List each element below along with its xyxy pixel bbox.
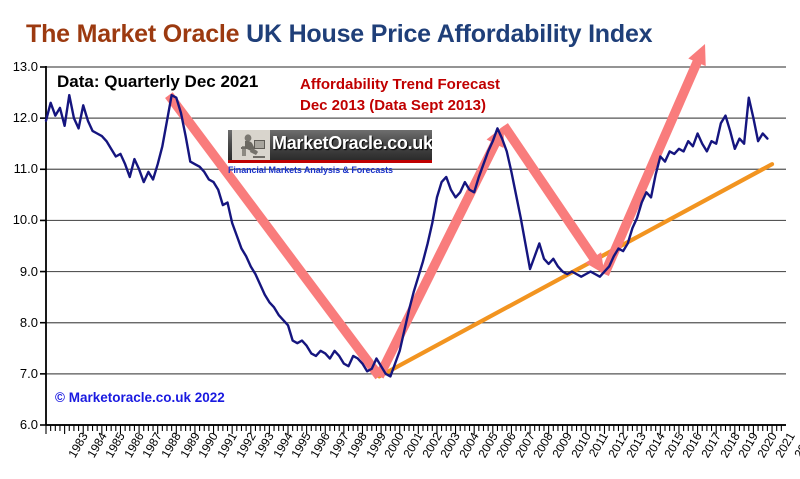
logo-name: MarketOracle.co.uk bbox=[272, 133, 432, 154]
y-axis-label: 10.0 bbox=[0, 212, 38, 227]
y-axis-label: 7.0 bbox=[0, 366, 38, 381]
y-axis-label: 11.0 bbox=[0, 161, 38, 176]
forecast-annotation: Affordability Trend Forecast Dec 2013 (D… bbox=[300, 75, 500, 116]
copyright-notice: © Marketoracle.co.uk 2022 bbox=[55, 390, 225, 405]
seated-figure-glyph bbox=[232, 130, 270, 160]
forecast-segment-2 bbox=[504, 126, 598, 264]
logo-tagline: Financial Markets Analysis & Forecasts bbox=[228, 165, 432, 175]
forecast-annotation-line1: Affordability Trend Forecast bbox=[300, 75, 500, 96]
y-axis-label: 9.0 bbox=[0, 264, 38, 279]
marketoracle-logo: MarketOracle.co.uk Financial Markets Ana… bbox=[228, 130, 432, 176]
y-axis-label: 6.0 bbox=[0, 417, 38, 432]
data-note-annotation: Data: Quarterly Dec 2021 bbox=[57, 72, 258, 92]
seated-figure-icon bbox=[232, 130, 270, 160]
forecast-segment-3 bbox=[604, 55, 700, 274]
y-axis-label: 8.0 bbox=[0, 315, 38, 330]
forecast-annotation-line2: Dec 2013 (Data Sept 2013) bbox=[300, 96, 500, 117]
logo-bar: MarketOracle.co.uk bbox=[228, 130, 432, 163]
y-axis-label: 13.0 bbox=[0, 59, 38, 74]
y-axis-label: 12.0 bbox=[0, 110, 38, 125]
